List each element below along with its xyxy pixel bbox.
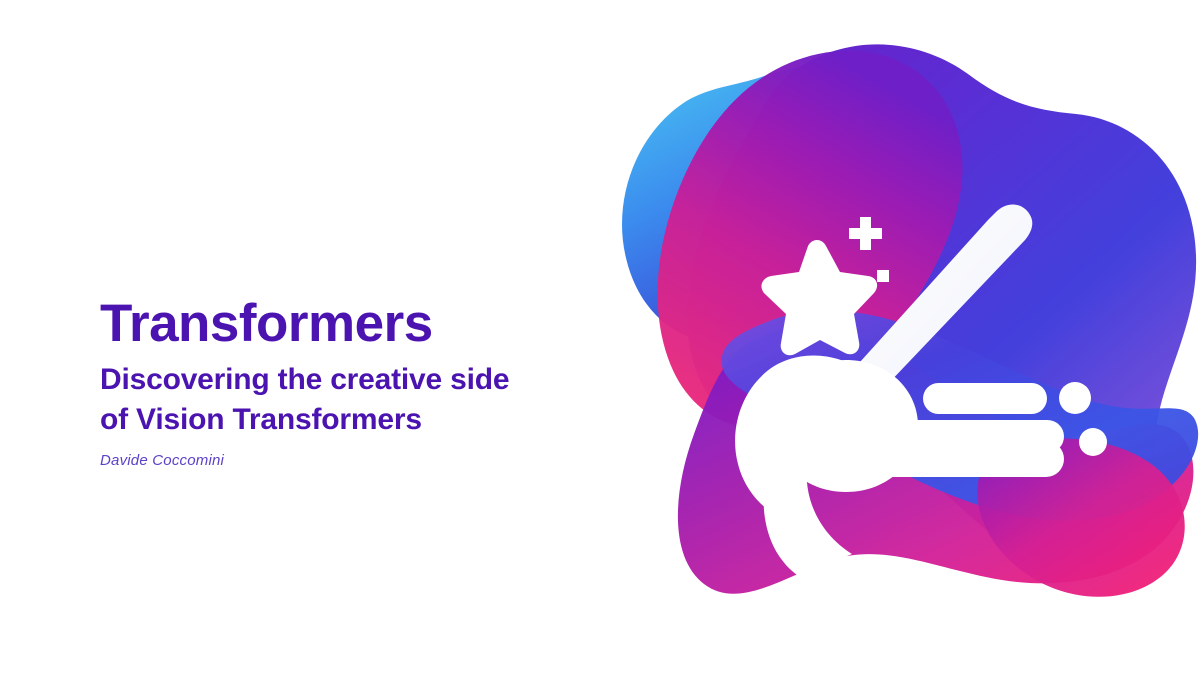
title-text-block: Transformers Discovering the creative si… (100, 296, 620, 469)
slide-subtitle-line-2: of Vision Transformers (100, 400, 620, 440)
artwork-container (596, 14, 1200, 654)
magic-bar-top-icon (923, 383, 1047, 414)
slide-subtitle-line-1: Discovering the creative side (100, 360, 620, 400)
magic-bar-bottom-icon (868, 441, 1064, 477)
magic-wand-blob-illustration (596, 14, 1200, 654)
magic-dot-small-icon (1079, 428, 1107, 456)
presentation-slide: Transformers Discovering the creative si… (0, 0, 1200, 675)
author-name: Davide Coccomini (100, 452, 620, 469)
page-title: Transformers (100, 296, 620, 352)
magic-dot-large-icon (1059, 382, 1091, 414)
slide-subtitle: Discovering the creative side of Vision … (100, 360, 620, 440)
sparkle-square-icon (877, 270, 889, 282)
